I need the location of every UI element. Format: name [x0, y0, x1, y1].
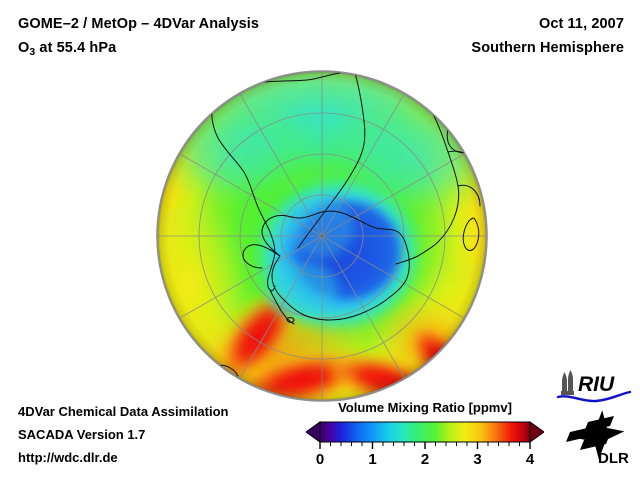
species-symbol: O — [18, 40, 29, 56]
colorbar-arrow-left — [306, 422, 320, 442]
header-left: GOME–2 / MetOp – 4DVar Analysis O3 at 55… — [18, 12, 259, 65]
colorbar-tick-3: 3 — [473, 451, 481, 466]
dlr-logo: DLR — [562, 408, 634, 466]
cathedral-spires-icon — [561, 370, 574, 395]
colorbar-tick-1: 1 — [368, 451, 376, 466]
colorbar: Volume Mixing Ratio [ppmv] 01234 — [306, 400, 544, 466]
riu-logo: RIU — [556, 369, 632, 403]
footer-line-url[interactable]: http://wdc.dlr.de — [18, 446, 229, 469]
region-label: Southern Hemisphere — [471, 36, 624, 60]
colorbar-tick-0: 0 — [316, 451, 324, 466]
colorbar-arrow-right — [530, 422, 544, 442]
analysis-title: GOME–2 / MetOp – 4DVar Analysis — [18, 12, 259, 36]
colorbar-tick-labels: 01234 — [316, 451, 535, 466]
header-right: Oct 11, 2007 Southern Hemisphere — [471, 12, 624, 60]
species-pressure-label: O3 at 55.4 hPa — [18, 36, 259, 65]
pressure-level: at 55.4 hPa — [35, 40, 116, 56]
footer-info: 4DVar Chemical Data Assimilation SACADA … — [18, 400, 229, 469]
coastline-new-zealand — [200, 365, 238, 388]
dlr-wordmark: DLR — [598, 450, 629, 466]
colorbar-tick-4: 4 — [526, 451, 535, 466]
colorbar-gradient — [320, 422, 530, 442]
colorbar-tick-2: 2 — [421, 451, 429, 466]
footer-line-version: SACADA Version 1.7 — [18, 423, 229, 446]
colorbar-title: Volume Mixing Ratio [ppmv] — [306, 400, 544, 415]
polar-ozone-map — [152, 68, 492, 404]
south-pole-marker — [320, 234, 323, 237]
colorbar-ticks — [320, 442, 530, 449]
footer-line-method: 4DVar Chemical Data Assimilation — [18, 400, 229, 423]
date-label: Oct 11, 2007 — [471, 12, 624, 36]
riu-wordmark: RIU — [578, 373, 615, 396]
